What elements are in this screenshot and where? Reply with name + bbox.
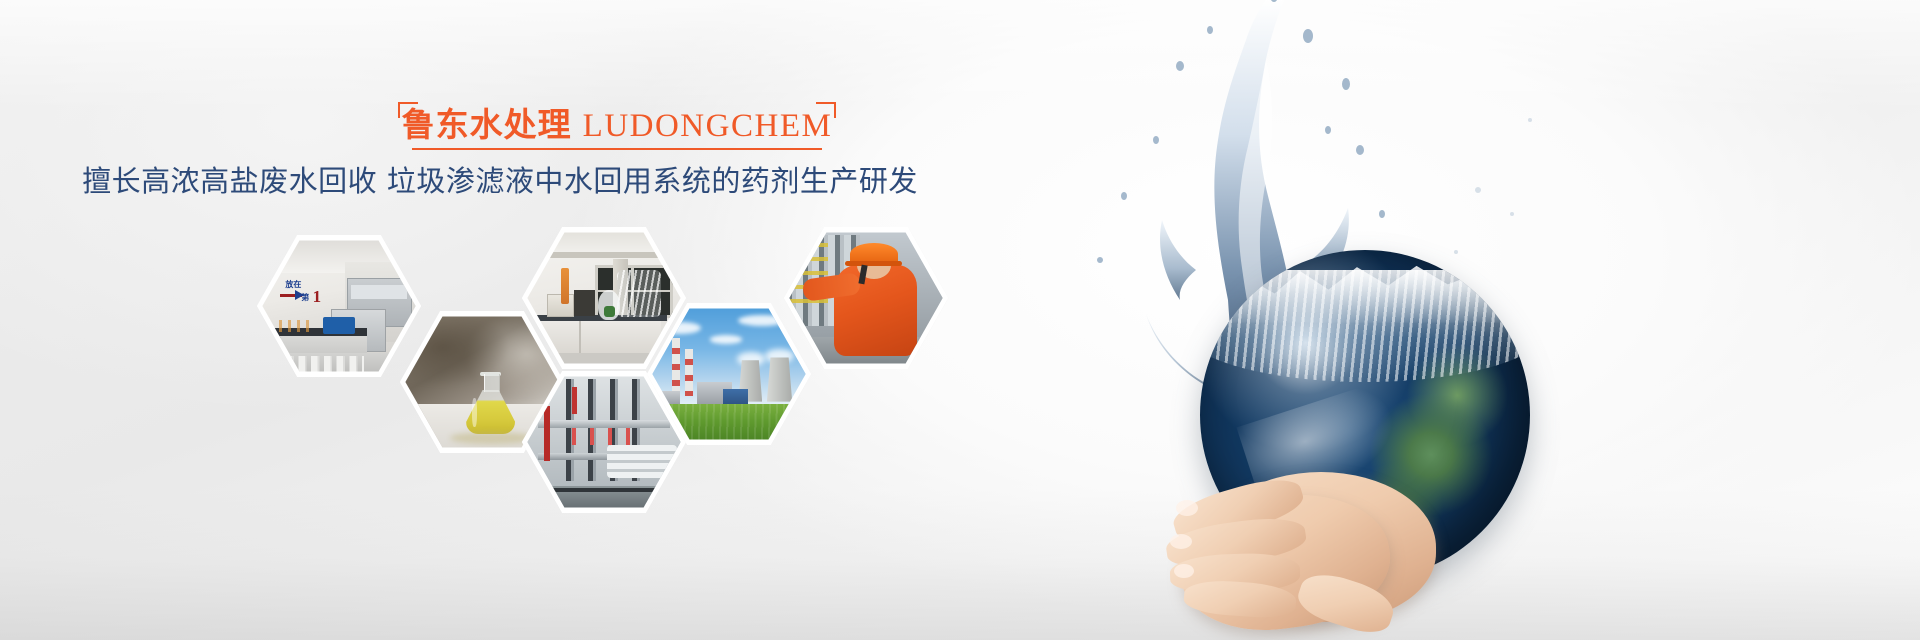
wall-slogan-graphic: 放在第 1 xyxy=(277,278,334,308)
droplets-far xyxy=(1454,118,1532,254)
hero-banner: 鲁东水处理 LUDONGCHEM 擅长高浓高盐废水回收 垃圾渗滤液中水回用系统的… xyxy=(0,0,1920,640)
splash-arc-left xyxy=(1160,220,1196,300)
hex-photo xyxy=(525,229,683,367)
globe-water-wave xyxy=(1200,270,1530,382)
nail-middle xyxy=(1170,534,1192,549)
hex-photo xyxy=(787,229,945,367)
nail-index xyxy=(1176,500,1198,516)
cupped-hands xyxy=(1150,430,1570,640)
photo-lab-glassware xyxy=(525,229,683,367)
hex-photo: 放在第 1 xyxy=(260,237,418,375)
water-splash-artwork xyxy=(1060,0,1920,640)
photo-worker xyxy=(787,229,945,367)
hex-lab-room[interactable]: 放在第 1 xyxy=(255,232,423,380)
nail-ring xyxy=(1174,564,1194,578)
hexagon-gallery: 放在第 1 xyxy=(0,0,1000,640)
photo-lab-room: 放在第 1 xyxy=(260,237,418,375)
hex-worker[interactable] xyxy=(782,224,950,372)
